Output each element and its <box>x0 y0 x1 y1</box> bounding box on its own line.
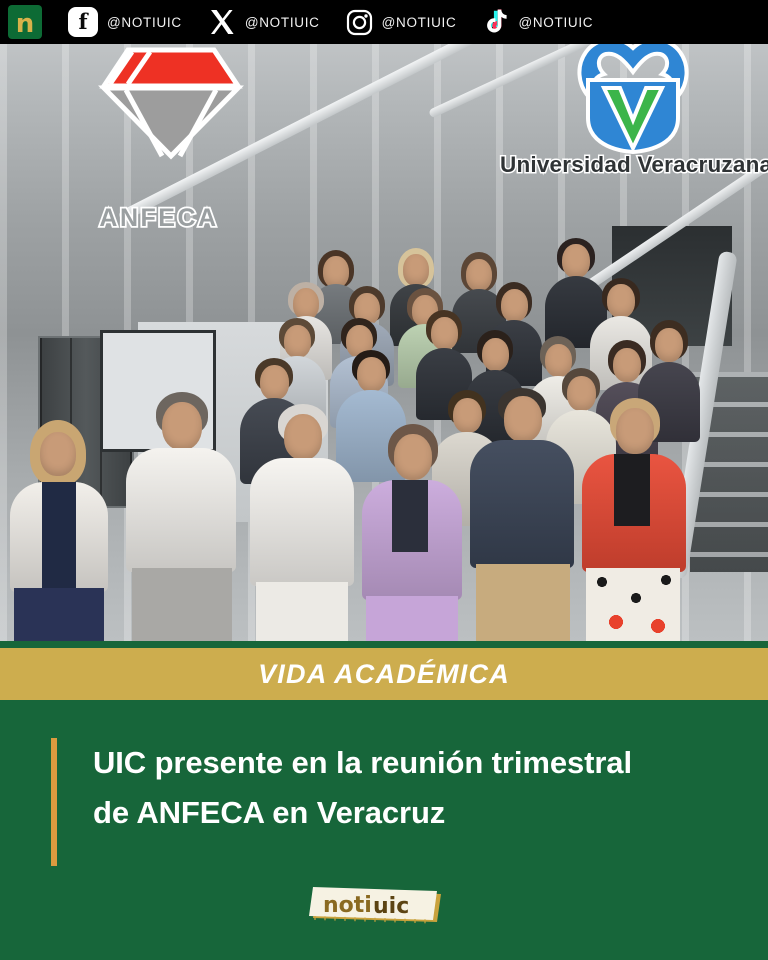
notiuic-n-letter: n <box>16 11 35 37</box>
instagram-icon[interactable] <box>346 9 373 36</box>
uv-label: Universidad Veracruzana <box>500 152 766 178</box>
headline-accent-bar <box>51 738 57 866</box>
facebook-icon[interactable]: f <box>68 7 98 37</box>
headline: UIC presente en la reunión trimestral de… <box>93 738 713 838</box>
facebook-handle: @NOTIUIC <box>107 15 182 30</box>
notiuic-text-part1: noti <box>323 893 372 918</box>
social-account-tiktok[interactable]: @NOTIUIC <box>482 8 619 37</box>
person <box>10 420 108 642</box>
anfeca-logo: ANFECA <box>74 44 244 194</box>
person <box>126 392 236 642</box>
anfeca-label: ANFECA <box>74 204 244 233</box>
tiktok-handle: @NOTIUIC <box>518 15 593 30</box>
group-photo: ANFECA Universidad Veracruzana <box>0 0 768 642</box>
notiuic-logo[interactable]: noti uic <box>305 884 445 928</box>
anfeca-hexagon-mark <box>74 44 244 162</box>
social-account-instagram[interactable]: @NOTIUIC <box>346 9 483 36</box>
band-separator <box>0 641 768 648</box>
social-account-x[interactable]: @NOTIUIC <box>208 8 346 36</box>
headline-line-2: de ANFECA en Veracruz <box>93 788 713 838</box>
category-label: VIDA ACADÉMICA <box>258 659 510 690</box>
universidad-veracruzana-logo: Universidad Veracruzana <box>500 36 766 196</box>
tiktok-icon[interactable] <box>482 8 509 37</box>
social-account-facebook[interactable]: f @NOTIUIC <box>68 7 208 37</box>
x-handle: @NOTIUIC <box>245 15 320 30</box>
category-band: VIDA ACADÉMICA <box>0 648 768 700</box>
notiuic-n-logo[interactable]: n <box>8 5 42 39</box>
notiuic-text-part2: uic <box>373 894 409 919</box>
facebook-glyph: f <box>78 11 87 32</box>
person <box>250 404 354 642</box>
x-twitter-icon[interactable] <box>208 8 236 36</box>
social-media-bar: n f @NOTIUIC @NOTIUIC @NOTIUIC <box>0 0 768 44</box>
person <box>362 424 462 642</box>
uv-shield-mark <box>500 36 766 156</box>
person <box>416 310 472 402</box>
headline-line-1: UIC presente en la reunión trimestral <box>93 738 713 788</box>
person <box>582 398 686 642</box>
instagram-handle: @NOTIUIC <box>382 15 457 30</box>
person <box>470 388 574 642</box>
news-poster: ANFECA Universidad Veracruzana n f @NOTI… <box>0 0 768 960</box>
